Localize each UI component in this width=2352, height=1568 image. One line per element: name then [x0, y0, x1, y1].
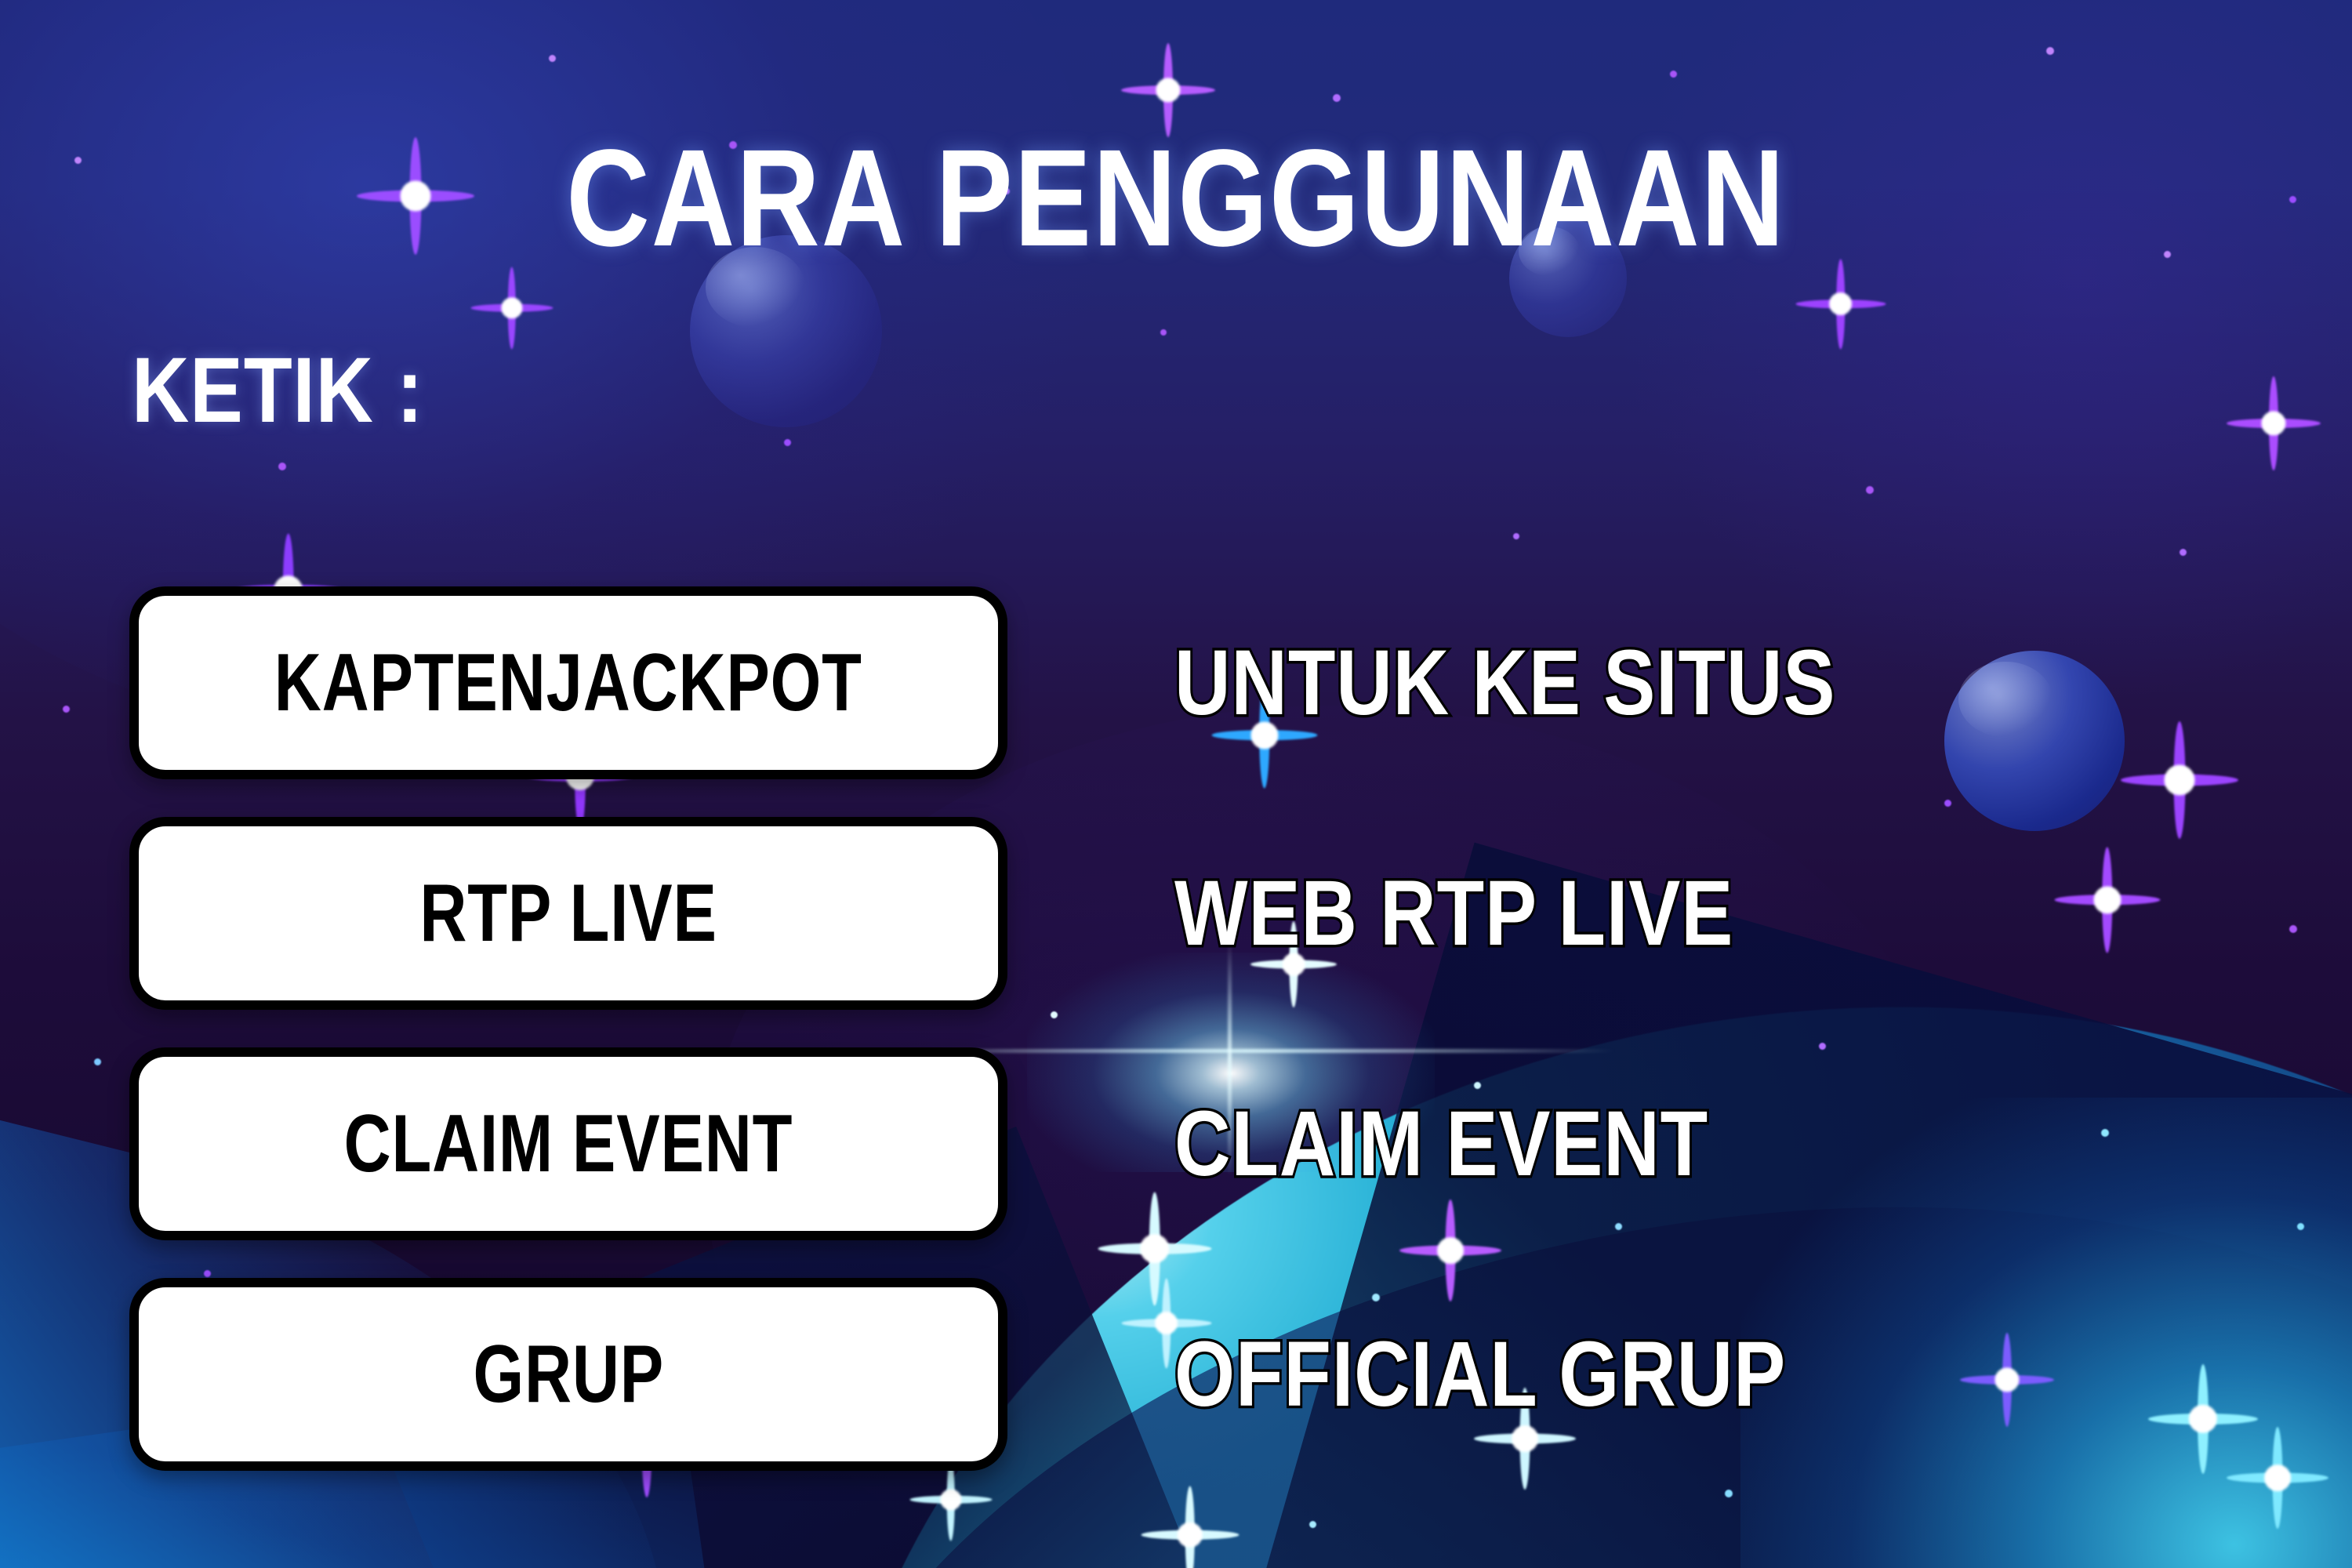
destination-list: UNTUK KE SITUS WEB RTP LIVE CLAIM EVENT …: [1174, 586, 1962, 1508]
keyword-label: CLAIM EVENT: [344, 1103, 793, 1185]
keyword-label: KAPTENJACKPOT: [274, 642, 862, 724]
keyword-pill-kaptenjackpot[interactable]: KAPTENJACKPOT: [129, 586, 1007, 779]
keyword-label: RTP LIVE: [419, 873, 717, 954]
keyword-list: KAPTENJACKPOT RTP LIVE CLAIM EVENT GRUP: [129, 586, 1007, 1508]
destination-row-claim-event: CLAIM EVENT: [1174, 1047, 1962, 1240]
keyword-pill-grup[interactable]: GRUP: [129, 1278, 1007, 1471]
page-title: CARA PENGGUNAAN: [188, 119, 2164, 278]
destination-label: CLAIM EVENT: [1174, 1098, 1708, 1190]
destination-row-web-rtp-live: WEB RTP LIVE: [1174, 817, 1962, 1010]
destination-label: WEB RTP LIVE: [1174, 867, 1733, 960]
keyword-label: GRUP: [473, 1334, 664, 1415]
destination-row-official-grup: OFFICIAL GRUP: [1174, 1278, 1962, 1471]
promo-banner: CARA PENGGUNAAN KETIK : KAPTENJACKPOT RT…: [0, 0, 2352, 1568]
destination-label: OFFICIAL GRUP: [1174, 1328, 1786, 1421]
destination-label: UNTUK KE SITUS: [1174, 637, 1835, 729]
destination-row-situs: UNTUK KE SITUS: [1174, 586, 1962, 779]
keyword-pill-claim-event[interactable]: CLAIM EVENT: [129, 1047, 1007, 1240]
keyword-pill-rtp-live[interactable]: RTP LIVE: [129, 817, 1007, 1010]
instruction-label: KETIK :: [132, 337, 423, 444]
